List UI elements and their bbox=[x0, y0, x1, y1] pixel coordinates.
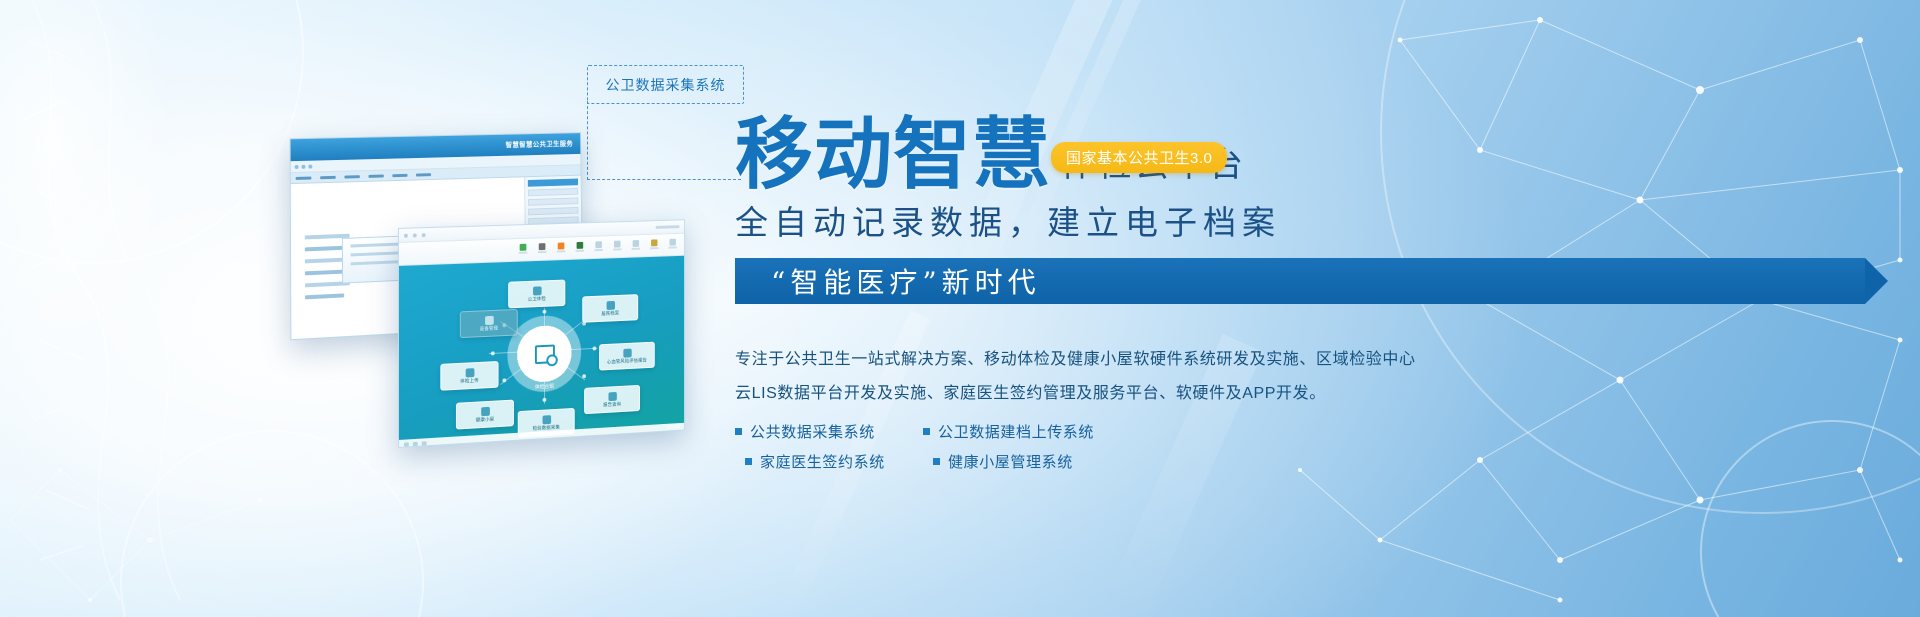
menu-item-placeholder bbox=[416, 173, 431, 176]
dashboard-node[interactable]: 设备管理 bbox=[460, 309, 518, 338]
node-label: 公卫体检 bbox=[528, 295, 546, 302]
bullet-square-icon bbox=[745, 458, 752, 465]
taskbar-item bbox=[413, 441, 418, 445]
callout-box: 公卫数据采集系统 bbox=[587, 65, 744, 104]
dashboard-node[interactable]: 报告查询 bbox=[584, 385, 640, 414]
feature-item-family-doctor-contract[interactable]: 家庭医生签约系统 bbox=[735, 446, 895, 476]
feature-label: 公共数据采集系统 bbox=[750, 421, 875, 442]
sidepanel-row bbox=[528, 207, 578, 215]
sidepanel-header bbox=[528, 179, 578, 187]
dashboard-node[interactable]: 体检上传 bbox=[440, 361, 498, 391]
ring-decoration bbox=[120, 430, 424, 617]
headline-row: 移动智慧 体检云平台 国家基本公共卫生3.0 bbox=[735, 106, 1865, 192]
tree-node-placeholder bbox=[305, 270, 344, 276]
node-icon bbox=[533, 286, 542, 295]
callout-leader-line bbox=[587, 101, 741, 180]
bullet-square-icon bbox=[735, 428, 742, 435]
ribbon-icon bbox=[669, 238, 677, 251]
ribbon-banner: “智能医疗”新时代 bbox=[735, 258, 1865, 304]
toolbar-dot-icon bbox=[308, 164, 312, 168]
ribbon-icon bbox=[538, 243, 547, 256]
ring-decoration bbox=[0, 0, 304, 264]
window-control-icon bbox=[413, 233, 417, 237]
screenshot-front-dashboard: 体检合辑 公卫体检 居民档案 心血管风险评估报告 报告查询 检验数据采集 bbox=[399, 256, 684, 448]
window-control-icon bbox=[422, 233, 426, 237]
screenshot-front: 体检合辑 公卫体检 居民档案 心血管风险评估报告 报告查询 检验数据采集 bbox=[398, 219, 685, 448]
promo-banner: 公卫数据采集系统 智慧智慧公共卫生服务 bbox=[0, 0, 1920, 617]
feature-list: 公共数据采集系统 公卫数据建档上传系统 家庭医生签约系统 健康小屋管理系统 bbox=[735, 416, 1865, 476]
tree-node-placeholder bbox=[305, 293, 344, 299]
node-label: 体检上传 bbox=[460, 377, 479, 384]
ribbon-icon bbox=[519, 243, 528, 256]
ribbon-icon bbox=[557, 242, 566, 255]
titlebar-text-placeholder bbox=[656, 225, 680, 229]
feature-item-health-record-upload[interactable]: 公卫数据建档上传系统 bbox=[923, 416, 1143, 446]
menu-item-placeholder bbox=[320, 175, 336, 178]
node-icon bbox=[608, 391, 616, 400]
node-label: 报告查询 bbox=[603, 401, 621, 408]
tree-node-placeholder bbox=[305, 246, 344, 252]
dashboard-node[interactable]: 居民档案 bbox=[582, 294, 638, 323]
node-icon bbox=[485, 315, 494, 324]
menu-item-placeholder bbox=[344, 175, 359, 178]
ribbon-icon bbox=[613, 240, 621, 253]
node-icon bbox=[481, 406, 490, 415]
headline-line2: 全自动记录数据，建立电子档案 bbox=[735, 196, 1865, 244]
hub-core bbox=[525, 333, 563, 374]
node-icon bbox=[623, 348, 631, 357]
node-label: 设备管理 bbox=[480, 325, 499, 332]
feature-item-health-cabin-management[interactable]: 健康小屋管理系统 bbox=[923, 446, 1143, 476]
callout-label: 公卫数据采集系统 bbox=[606, 75, 726, 95]
dashboard-node[interactable]: 公卫体检 bbox=[508, 280, 565, 309]
ribbon-icon bbox=[576, 241, 584, 254]
description-block: 专注于公共卫生一站式解决方案、移动体检及健康小屋软硬件系统研发及实施、区域检验中… bbox=[735, 348, 1865, 406]
ribbon-icon bbox=[632, 239, 640, 252]
ribbon-icon bbox=[650, 239, 658, 252]
copy-block: 移动智慧 体检云平台 国家基本公共卫生3.0 全自动记录数据，建立电子档案 “智… bbox=[735, 106, 1865, 476]
headline-strong: 移动智慧 bbox=[735, 120, 1051, 192]
node-label: 心血管风险评估报告 bbox=[607, 357, 647, 365]
bullet-square-icon bbox=[933, 458, 940, 465]
titlebar-spacer bbox=[431, 228, 652, 235]
glow-decoration bbox=[0, 0, 190, 390]
magnify-report-icon bbox=[534, 344, 554, 364]
window-control-icon bbox=[404, 233, 408, 237]
menu-item-placeholder bbox=[368, 174, 383, 177]
feature-item-public-data-collection[interactable]: 公共数据采集系统 bbox=[735, 416, 895, 446]
bullet-square-icon bbox=[923, 428, 930, 435]
sidepanel-row bbox=[528, 197, 578, 205]
toolbar-dot-icon bbox=[295, 164, 299, 168]
feature-label: 家庭医生签约系统 bbox=[760, 451, 885, 472]
taskbar-item bbox=[422, 441, 427, 445]
node-label: 居民档案 bbox=[601, 310, 619, 317]
ribbon-label: “智能医疗”新时代 bbox=[771, 261, 1041, 301]
description-line-2: 云LIS数据平台开发及实施、家庭医生签约管理及服务平台、软硬件及APP开发。 bbox=[735, 382, 1865, 406]
feature-label: 公卫数据建档上传系统 bbox=[938, 421, 1094, 442]
toolbar-dot-icon bbox=[301, 164, 305, 168]
sidepanel-row bbox=[528, 188, 578, 196]
node-label: 健康小屋 bbox=[476, 416, 495, 423]
ribbon-icon bbox=[594, 241, 602, 254]
screenshot-back-title: 智慧智慧公共卫生服务 bbox=[506, 139, 574, 150]
menu-item-placeholder bbox=[392, 173, 407, 176]
badge-national-health: 国家基本公共卫生3.0 bbox=[1051, 142, 1227, 173]
node-icon bbox=[542, 415, 551, 424]
dashboard-node[interactable]: 健康小屋 bbox=[456, 400, 514, 430]
dashboard-node[interactable]: 心血管风险评估报告 bbox=[599, 342, 655, 371]
menu-item-placeholder bbox=[296, 176, 312, 179]
feature-label: 健康小屋管理系统 bbox=[948, 451, 1073, 472]
node-icon bbox=[606, 300, 614, 309]
node-icon bbox=[465, 368, 474, 377]
description-line-1: 专注于公共卫生一站式解决方案、移动体检及健康小屋软硬件系统研发及实施、区域检验中… bbox=[735, 348, 1865, 372]
taskbar-item bbox=[404, 442, 409, 446]
hub-label: 体检合辑 bbox=[535, 383, 554, 391]
